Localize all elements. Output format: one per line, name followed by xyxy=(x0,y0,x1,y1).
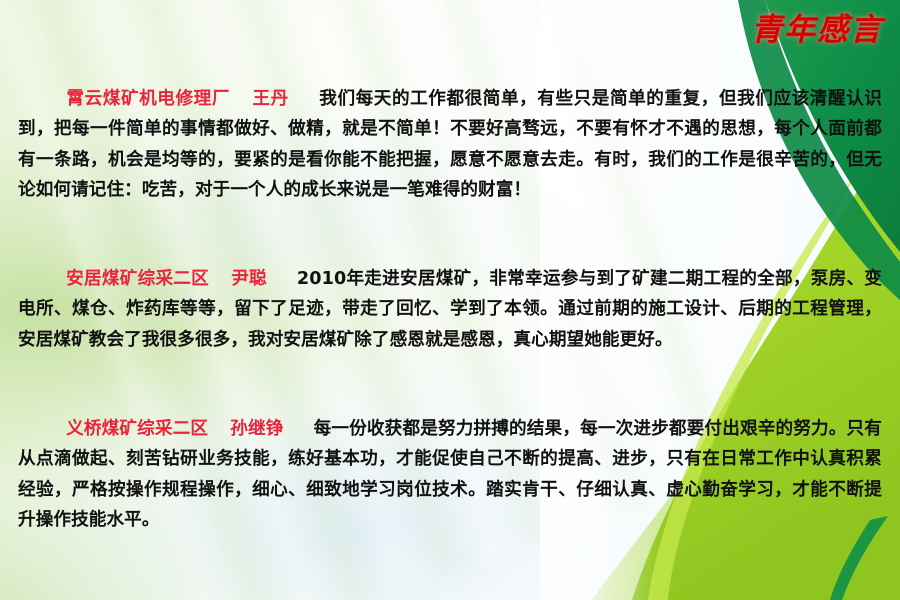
testimonial-entry: 安居煤矿综采二区尹聪2010年走进安居煤矿，非常幸运参与到了矿建二期工程的全部，… xyxy=(18,264,882,356)
speaker-name: 王丹 xyxy=(252,89,289,109)
testimonial-list: 霄云煤矿机电修理厂王丹我们每天的工作都很简单，有些只是简单的重复，但我们应该清醒… xyxy=(0,0,900,600)
speaker-name: 孙继铮 xyxy=(230,419,283,439)
speaker-label: 安居煤矿综采二区尹聪 xyxy=(66,269,267,289)
speaker-label: 霄云煤矿机电修理厂王丹 xyxy=(66,89,289,109)
speaker-name: 尹聪 xyxy=(231,269,267,289)
testimonial-entry: 霄云煤矿机电修理厂王丹我们每天的工作都很简单，有些只是简单的重复，但我们应该清醒… xyxy=(18,84,882,206)
speaker-unit: 霄云煤矿机电修理厂 xyxy=(66,89,230,109)
speaker-label: 义桥煤矿综采二区孙继铮 xyxy=(66,419,284,439)
slide-title: 青年感言 xyxy=(742,4,892,49)
speaker-unit: 义桥煤矿综采二区 xyxy=(66,419,208,439)
speaker-unit: 安居煤矿综采二区 xyxy=(66,269,209,289)
slide-canvas: 青年感言 霄云煤矿机电修理厂王丹我们每天的工作都很简单，有些只是简单的重复，但我… xyxy=(0,0,900,600)
testimonial-entry: 义桥煤矿综采二区孙继铮每一份收获都是努力拼搏的结果，每一次进步都要付出艰辛的努力… xyxy=(18,414,882,536)
